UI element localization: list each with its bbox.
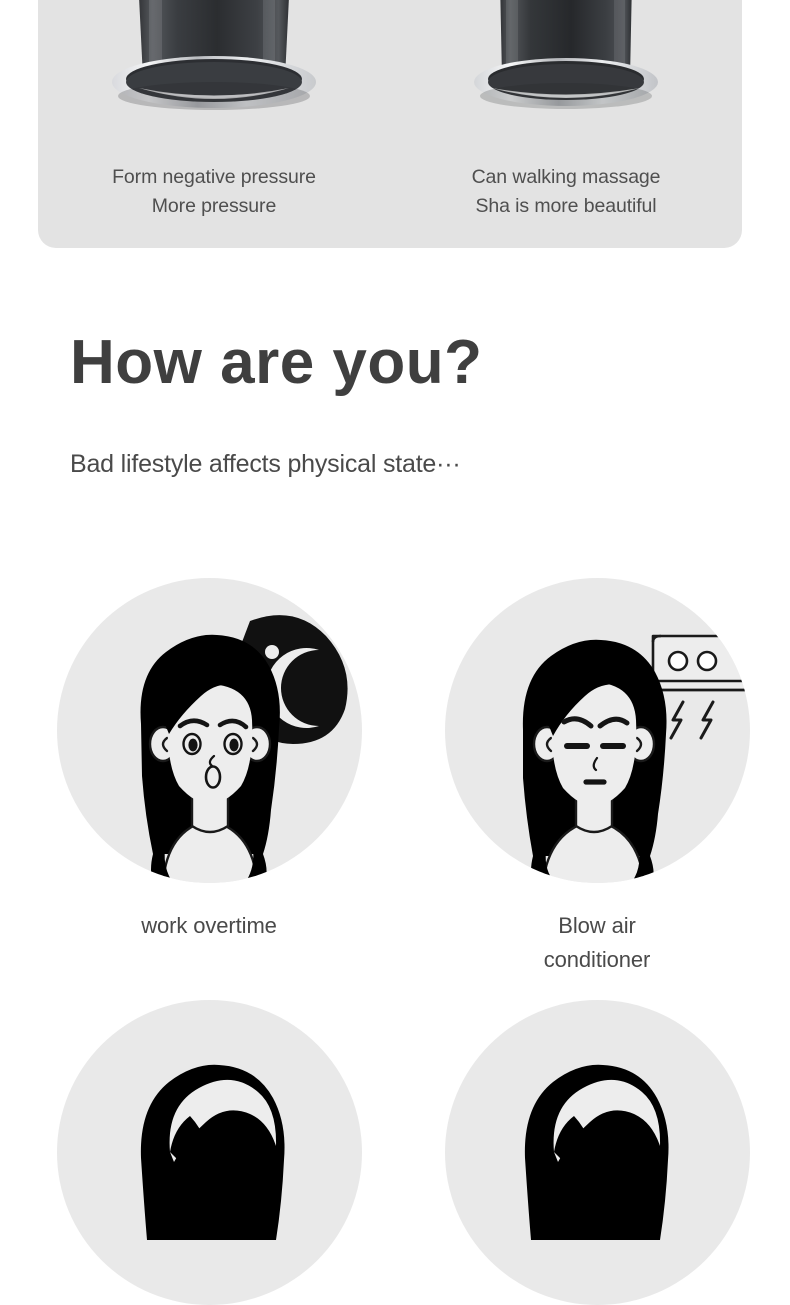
symptom-item-blow-air-conditioner: Blow air conditioner <box>402 578 790 977</box>
symptom-row <box>0 1000 790 1305</box>
symptom-item-partial-left <box>0 1000 402 1305</box>
woman-portrait-clipped-icon <box>445 1000 750 1305</box>
woman-portrait-clipped-icon <box>57 1000 362 1305</box>
feature-caption-line-1: Form negative pressure <box>112 163 316 191</box>
feature-caption: Can walking massage Sha is more beautifu… <box>472 163 661 220</box>
symptom-caption-line-1: Blow air <box>544 909 651 943</box>
woman-yawning-night-moon-icon <box>57 578 362 883</box>
heading-block: How are you? Bad lifestyle affects physi… <box>70 332 730 479</box>
feature-card: Form negative pressure More pressure <box>38 0 742 248</box>
feature-card-grid: Form negative pressure More pressure <box>38 0 742 248</box>
feature-caption-line-1: Can walking massage <box>472 163 661 191</box>
feature-caption-line-2: More pressure <box>112 192 316 220</box>
feature-caption: Form negative pressure More pressure <box>112 163 316 220</box>
symptom-item-work-overtime: work overtime <box>0 578 402 977</box>
symptom-caption-line-1: work overtime <box>141 909 277 943</box>
cupping-device-narrow-icon <box>468 0 664 132</box>
woman-air-conditioner-cold-icon <box>445 578 750 883</box>
symptom-grid: work overtime <box>0 578 790 1305</box>
page-title: How are you? <box>70 332 730 394</box>
symptom-caption: Blow air conditioner <box>544 883 651 977</box>
feature-item-walking-massage: Can walking massage Sha is more beautifu… <box>390 0 742 248</box>
symptom-item-partial-right <box>402 1000 790 1305</box>
cupping-device-wide-icon <box>103 0 325 132</box>
feature-item-negative-pressure: Form negative pressure More pressure <box>38 0 390 248</box>
symptom-caption: work overtime <box>141 883 277 943</box>
page-subtitle: Bad lifestyle affects physical state··· <box>70 394 730 479</box>
feature-caption-line-2: Sha is more beautiful <box>472 192 661 220</box>
symptom-row: work overtime <box>0 578 790 977</box>
symptom-caption-line-2: conditioner <box>544 943 651 977</box>
